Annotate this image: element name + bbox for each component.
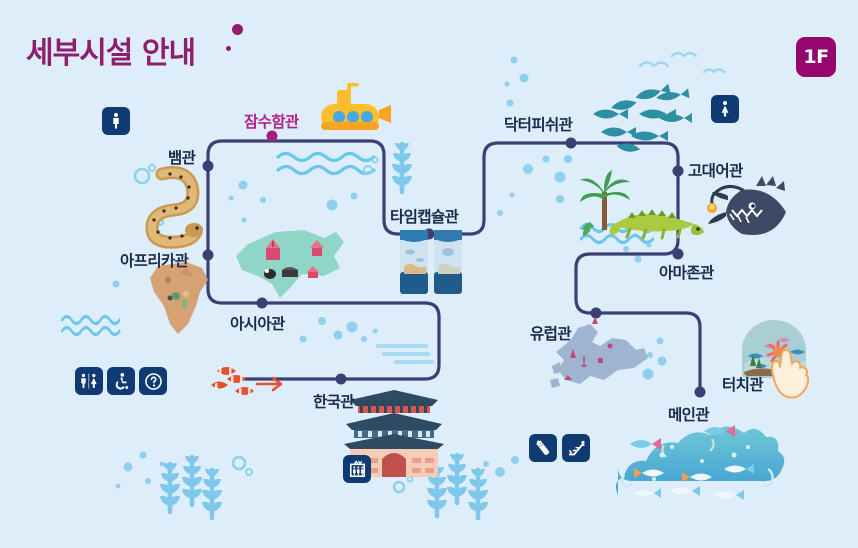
seaweed-4: [202, 469, 222, 518]
africa-map-illustration: [150, 262, 208, 334]
wave-with-fish: [616, 425, 784, 500]
seaweed-6: [447, 454, 467, 503]
zone-label-doctorfish[interactable]: 닥터피쉬관: [504, 113, 572, 135]
female-restroom-icon[interactable]: [711, 95, 739, 123]
route-node-europe[interactable]: [591, 308, 602, 319]
seaweed-1: [392, 143, 412, 192]
escalator-icon[interactable]: [562, 434, 590, 462]
zone-label-touch[interactable]: 터치관: [722, 373, 763, 395]
zone-label-africa[interactable]: 아프리카관: [120, 249, 188, 271]
wave-decoration-3b: [581, 236, 653, 243]
baby-bottle-icon[interactable]: [529, 434, 557, 462]
route-node-asia[interactable]: [257, 298, 268, 309]
submarine-illustration: [321, 83, 391, 130]
route-left-segment: [208, 141, 439, 379]
wave-decoration-2: [62, 317, 120, 324]
snake-illustration: [152, 172, 203, 242]
illustrations-layer: [0, 0, 858, 548]
zone-label-submarine[interactable]: 잠수함관: [244, 110, 299, 132]
wave-decoration-1: [278, 154, 374, 161]
time-capsule-tanks: [400, 230, 462, 294]
route-node-snake[interactable]: [203, 161, 214, 172]
male-restroom-icon[interactable]: [102, 107, 130, 135]
route-node-africa[interactable]: [203, 250, 214, 261]
zone-label-main[interactable]: 메인관: [668, 403, 709, 425]
birds-decoration: [640, 53, 724, 72]
zone-label-asia[interactable]: 아시아관: [230, 312, 285, 334]
zone-label-ancientfish[interactable]: 고대어관: [688, 159, 743, 181]
zone-label-europe[interactable]: 유럽관: [530, 322, 571, 344]
route-node-korea[interactable]: [336, 374, 347, 385]
route-node-submarine[interactable]: [267, 131, 278, 142]
anglerfish-illustration: [707, 176, 786, 235]
elevator-icon[interactable]: [343, 455, 371, 483]
bubbles-group: [113, 57, 744, 493]
floor-badge[interactable]: 1F: [796, 37, 836, 77]
crocodile-illustration: [580, 170, 704, 238]
route-node-main[interactable]: [695, 387, 706, 398]
seaweed-7: [468, 469, 488, 518]
seaweed-2: [160, 463, 180, 512]
title-decoration-dot-large: [232, 24, 243, 35]
fish-school-illustration: [593, 84, 692, 153]
route-node-ancientfish[interactable]: [673, 166, 684, 177]
route-node-doctorfish[interactable]: [566, 138, 577, 149]
wave-decoration-3: [581, 225, 653, 232]
pointing-hand-icon: [772, 350, 808, 398]
wave-decoration-2b: [62, 328, 120, 335]
wheelchair-access-icon[interactable]: [107, 367, 135, 395]
zone-label-korea[interactable]: 한국관: [313, 390, 354, 412]
route-path-layer: [0, 0, 858, 548]
zone-label-amazon[interactable]: 아마존관: [659, 261, 714, 283]
zone-label-snake[interactable]: 뱀관: [168, 146, 195, 168]
wave-decoration-4: [378, 346, 432, 362]
information-icon[interactable]: [139, 367, 167, 395]
route-node-timecapsule[interactable]: [424, 229, 435, 240]
page-title: 세부시설 안내: [26, 28, 195, 72]
seaweed-5: [427, 467, 447, 516]
unisex-restroom-icon[interactable]: [75, 367, 103, 395]
route-node-dots: [203, 131, 706, 398]
zone-label-timecapsule[interactable]: 타임캡슐관: [390, 205, 458, 227]
decorations-layer: [0, 0, 858, 548]
floor-map: 세부시설 안내 1F: [0, 0, 858, 548]
title-decoration-dot-small: [226, 46, 231, 51]
seaweed-3: [182, 456, 202, 505]
clownfish-direction-arrow: [211, 367, 281, 395]
wave-decoration-1b: [278, 167, 374, 174]
asia-map-illustration: [236, 230, 344, 298]
route-node-amazon[interactable]: [673, 249, 684, 260]
touch-ripple: [768, 342, 788, 361]
